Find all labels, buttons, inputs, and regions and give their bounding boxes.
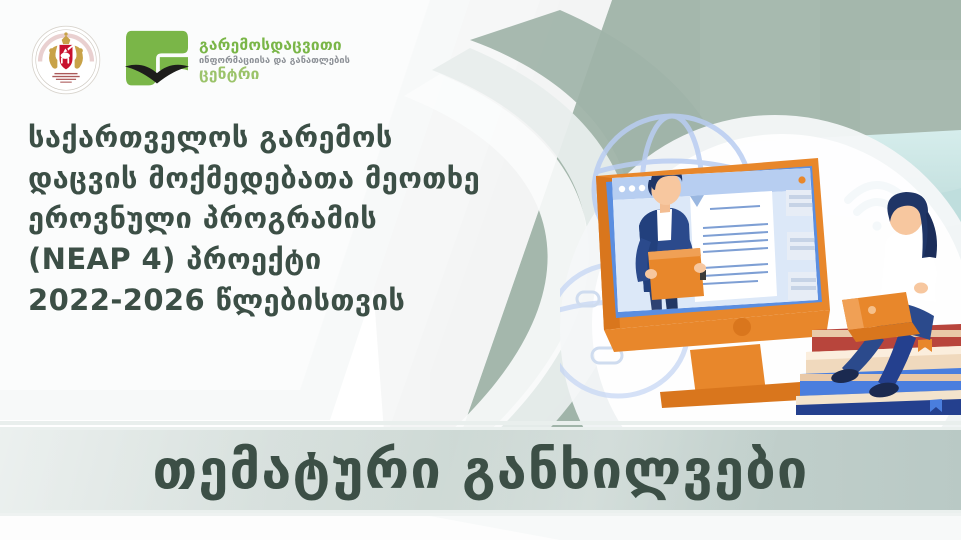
headline-line-2: დაცვის მოქმედებათა მეოთხე xyxy=(28,163,480,194)
headline-block: საქართველოს გარემოს დაცვის მოქმედებათა მ… xyxy=(28,122,480,316)
eiec-logo: გარემოსდაცვითი ინფორმაციისა და განათლები… xyxy=(124,29,350,91)
headline-line-4: (NEAP 4) პროექტი xyxy=(28,244,480,275)
eiec-logo-text: გარემოსდაცვითი ინფორმაციისა და განათლები… xyxy=(199,38,350,83)
headline-line-1: საქართველოს გარემოს xyxy=(28,122,480,153)
eiec-line-3: ცენტრი xyxy=(199,67,350,83)
open-book-square-logo-icon xyxy=(124,29,190,91)
banner-top-rule xyxy=(0,421,961,425)
eiec-line-1: გარემოსდაცვითი xyxy=(199,38,350,54)
slide-canvas: გარემოსდაცვითი ინფორმაციისა და განათლები… xyxy=(0,0,961,540)
subtitle-text: თემატური განხილვები xyxy=(152,443,808,497)
headline-line-3: ეროვნული პროგრამის xyxy=(28,203,480,234)
headline-line-5: 2022-2026 წლებისთვის xyxy=(28,285,480,316)
coat-of-arms-of-georgia-icon xyxy=(30,24,102,96)
logo-row: გარემოსდაცვითი ინფორმაციისა და განათლები… xyxy=(30,24,350,96)
eiec-line-2: ინფორმაციისა და განათლების xyxy=(199,56,350,65)
subtitle-banner: თემატური განხილვები xyxy=(0,427,961,513)
